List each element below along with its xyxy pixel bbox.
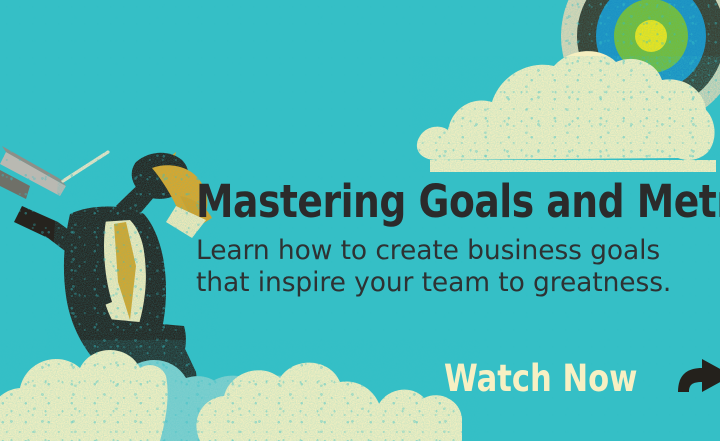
watch-now-button[interactable]: Watch Now: [444, 358, 720, 400]
cloud-upper-right: [412, 51, 720, 172]
arrow-right-icon: [676, 358, 720, 400]
subtitle-line-2: that inspire your team to greatness.: [196, 267, 690, 299]
watch-now-label: Watch Now: [444, 359, 637, 399]
promo-banner: Mastering Goals and Metrics Learn how to…: [0, 0, 720, 441]
copy-block: Mastering Goals and Metrics Learn how to…: [196, 178, 690, 299]
page-title: Mastering Goals and Metrics: [196, 178, 655, 226]
subtitle-line-1: Learn how to create business goals: [196, 235, 690, 267]
cloud-bottom-left: [0, 340, 480, 441]
